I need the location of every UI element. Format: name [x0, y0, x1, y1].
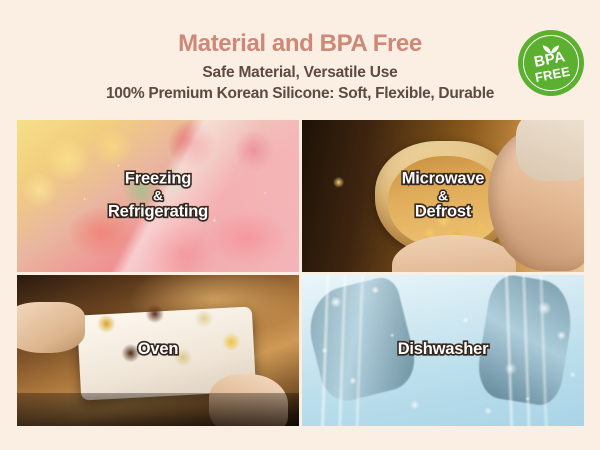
freezing-label-line-1: Freezing — [125, 169, 191, 187]
panel-label-freezing: Freezing & Refrigerating — [17, 170, 299, 221]
panel-label-oven: Oven — [17, 341, 299, 359]
microwave-label-line-1: Microwave — [402, 169, 485, 187]
oven-glass — [17, 393, 299, 426]
subtitle-line-1: Safe Material, Versatile Use — [0, 64, 600, 82]
subtitle-line-2: 100% Premium Korean Silicone: Soft, Flex… — [0, 85, 600, 103]
product-infographic: Material and BPA Free Safe Material, Ver… — [0, 0, 600, 450]
microwave-label-ampersand: & — [302, 188, 584, 203]
panel-microwave: Microwave & Defrost — [302, 120, 584, 272]
panel-dishwasher: Dishwasher — [302, 275, 584, 427]
freezing-label-line-3: Refrigerating — [108, 202, 208, 220]
bpa-free-badge: BPA FREE — [518, 30, 584, 96]
panel-freezing: Freezing & Refrigerating — [17, 120, 299, 272]
oven-label-line-1: Oven — [138, 340, 178, 358]
dishwasher-label-line-1: Dishwasher — [398, 340, 489, 358]
freezing-label-ampersand: & — [17, 188, 299, 203]
page-title: Material and BPA Free — [0, 31, 600, 57]
header: Material and BPA Free Safe Material, Ver… — [0, 0, 600, 120]
microwave-label-line-3: Defrost — [415, 202, 471, 220]
panel-oven: Oven — [17, 275, 299, 427]
use-case-panel-grid: Freezing & Refrigerating Microwave & — [17, 120, 584, 426]
panel-label-dishwasher: Dishwasher — [302, 341, 584, 359]
panel-label-microwave: Microwave & Defrost — [302, 170, 584, 221]
